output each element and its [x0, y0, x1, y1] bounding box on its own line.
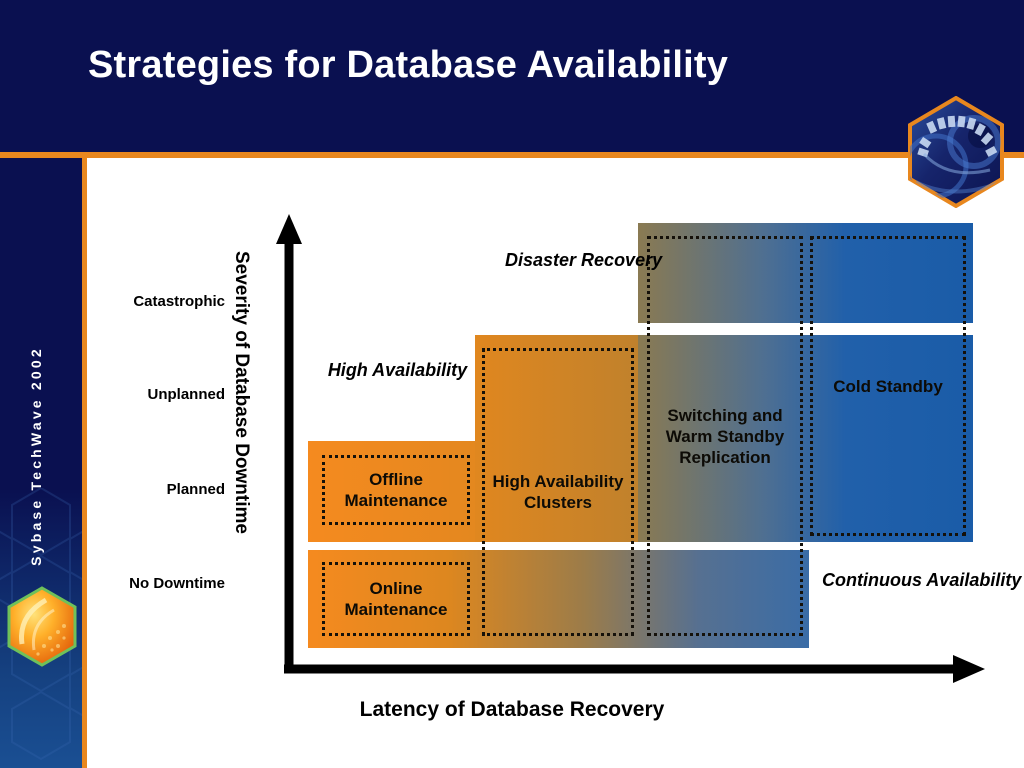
block-switching-warm-standby[interactable]: Switching and Warm Standby Replication [647, 236, 803, 636]
block-offline-maintenance[interactable]: Offline Maintenance [322, 455, 470, 525]
annotation-disaster-recovery: Disaster Recovery [505, 248, 625, 273]
block-label: Cold Standby [833, 376, 943, 397]
annotation-high-availability: High Availability [325, 358, 470, 383]
availability-matrix-chart: Offline Maintenance Online Maintenance H… [0, 158, 1024, 768]
page-title: Strategies for Database Availability [88, 42, 878, 88]
annotation-text: Disaster Recovery [505, 250, 662, 270]
y-axis-arrowhead-icon [276, 214, 302, 244]
y-tick-no-downtime: No Downtime [60, 575, 225, 592]
block-label: Switching and Warm Standby Replication [650, 405, 800, 468]
block-ha-clusters[interactable]: High Availability Clusters [482, 348, 634, 636]
x-axis-arrowhead-icon [953, 655, 985, 683]
block-label: High Availability Clusters [485, 471, 631, 513]
annotation-text: Continuous Availability [822, 570, 1021, 590]
block-online-maintenance[interactable]: Online Maintenance [322, 562, 470, 636]
y-tick-catastrophic: Catastrophic [60, 293, 225, 310]
block-label: Offline Maintenance [325, 469, 467, 511]
y-tick-unplanned: Unplanned [60, 386, 225, 403]
annotation-text: High Availability [328, 360, 467, 380]
block-cold-standby[interactable]: Cold Standby [810, 236, 966, 536]
slide-root: Strategies for Database Availability [0, 0, 1024, 768]
y-tick-planned: Planned [60, 481, 225, 498]
annotation-continuous-availability: Continuous Availability [822, 568, 982, 593]
y-axis-title: Severity of Database Downtime [230, 251, 252, 534]
x-axis-title: Latency of Database Recovery [0, 698, 1024, 722]
block-label: Online Maintenance [325, 578, 467, 620]
